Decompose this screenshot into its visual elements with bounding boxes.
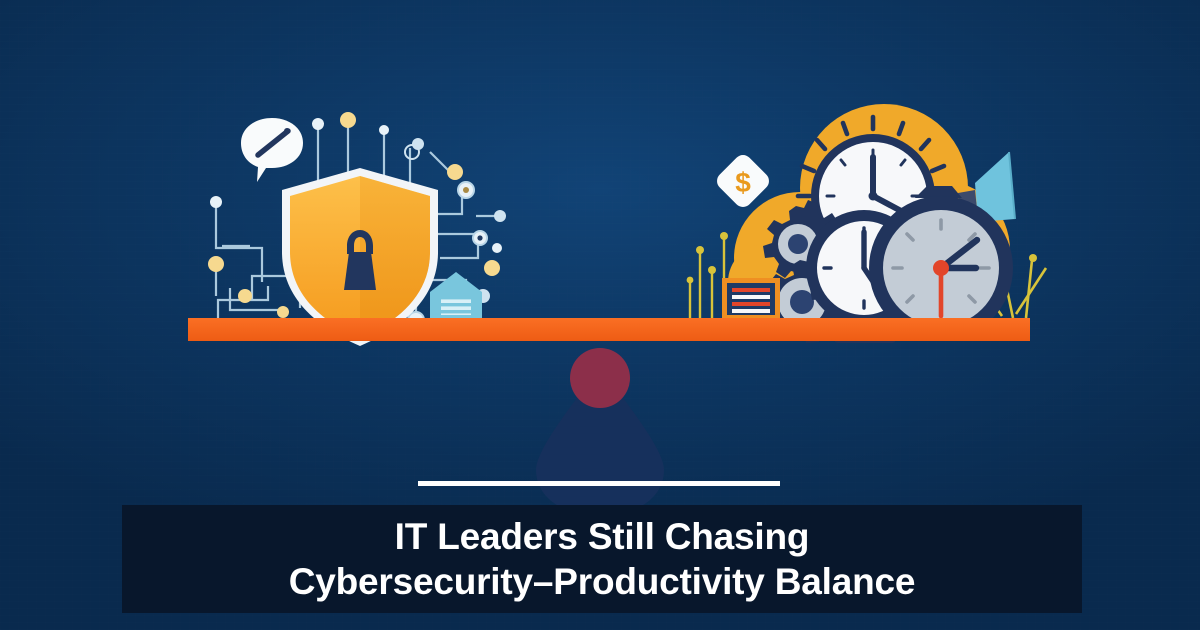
fulcrum-pivot bbox=[536, 348, 664, 516]
dollar-diamond-icon: $ bbox=[713, 151, 772, 210]
sparkle-lines bbox=[687, 232, 728, 320]
balance-beam bbox=[188, 318, 1030, 341]
speech-bubble-icon bbox=[241, 118, 303, 182]
divider-rule bbox=[418, 481, 780, 486]
banner-image: $ bbox=[0, 0, 1200, 630]
svg-text:$: $ bbox=[735, 167, 751, 198]
headline-banner: IT Leaders Still Chasing Cybersecurity–P… bbox=[122, 505, 1082, 613]
headline-line-2: Cybersecurity–Productivity Balance bbox=[289, 559, 916, 604]
headline-line-1: IT Leaders Still Chasing bbox=[395, 514, 810, 559]
checklist-card-icon bbox=[722, 278, 780, 320]
